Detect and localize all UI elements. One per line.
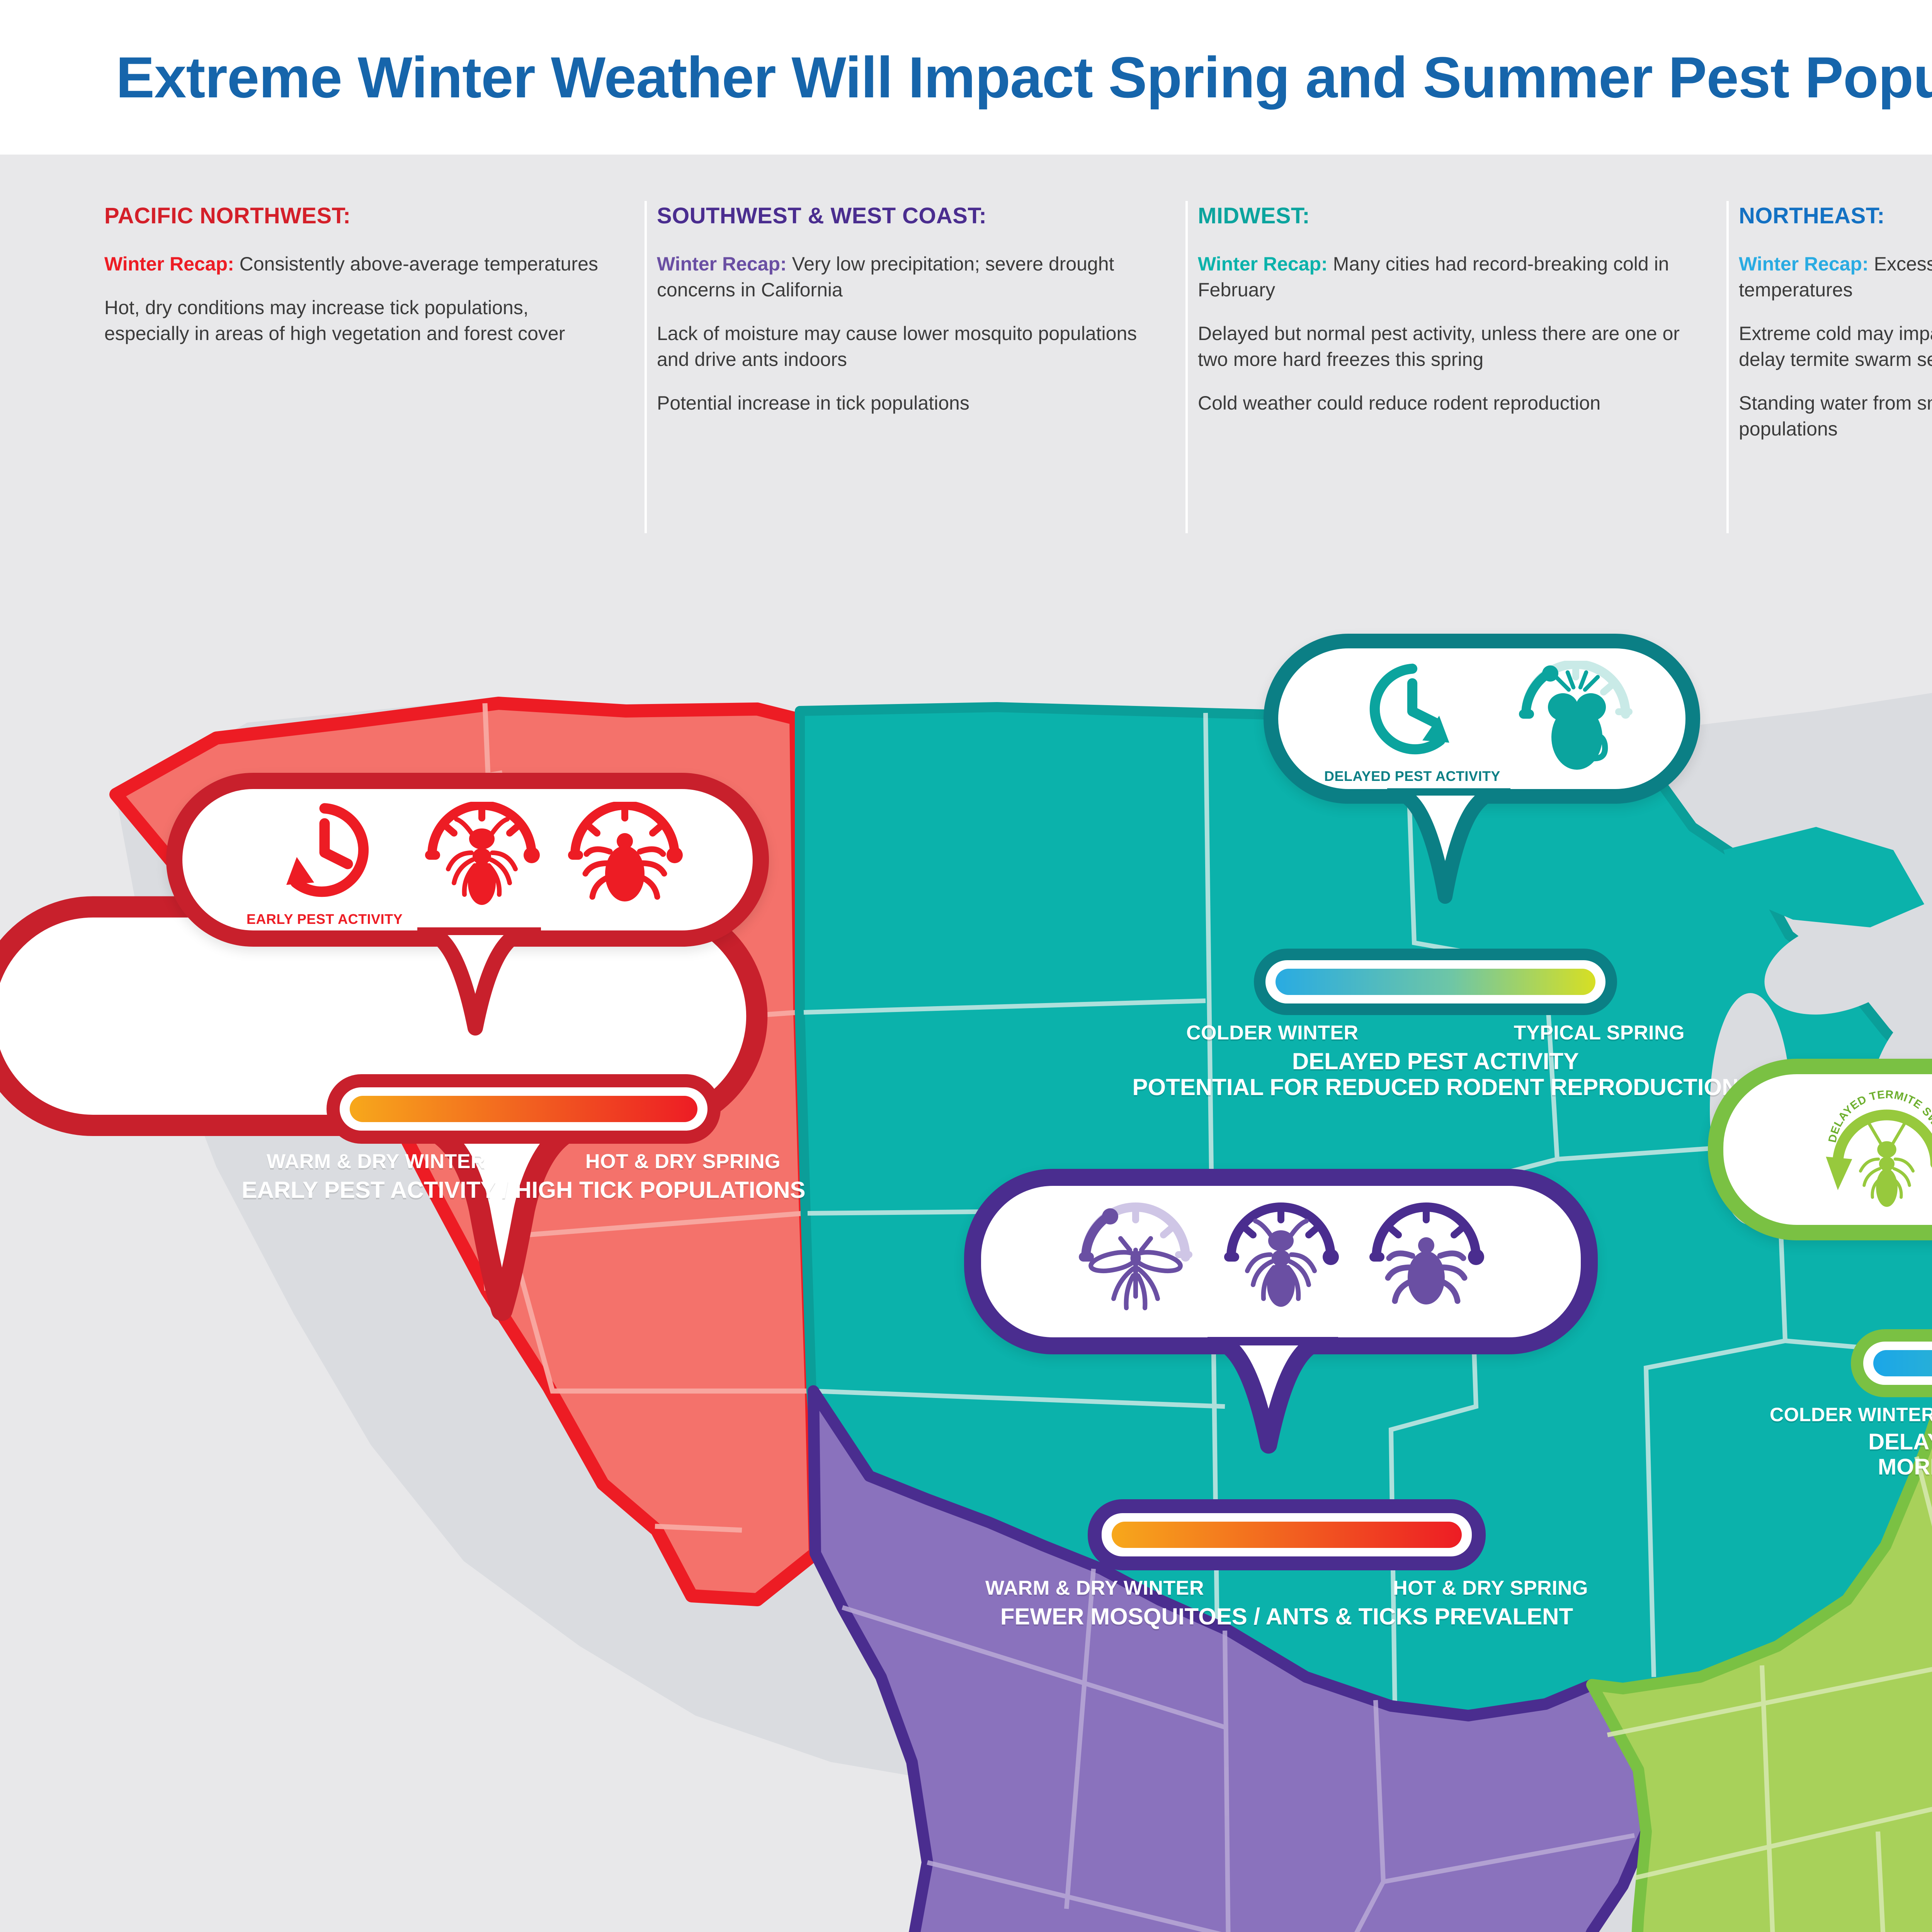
region-heading-midwest: MIDWEST: [1198, 203, 1685, 229]
callout-bubble-midwest[interactable]: DELAYED PEST ACTIVITY [1264, 634, 1700, 804]
gauge-group-southeast: COLDER WINTER COOLER SPRING DELAYED TERM… [1770, 1329, 1932, 1480]
gauge-label-left: COLDER WINTER [1770, 1403, 1932, 1426]
icon-caption-early-pest-activity: EARLY PEST ACTIVITY [247, 911, 403, 927]
region-heading-northeast: NORTHEAST: [1739, 203, 1932, 229]
gauge-labels-pacific-northwest: WARM & DRY WINTER HOT & DRY SPRING [267, 1150, 781, 1173]
gauge-midwest [1254, 949, 1617, 1015]
icon-slot-ant-up [418, 802, 546, 918]
recap-column-pacific-northwest: PACIFIC NORTHWEST: Winter Recap: Consist… [104, 155, 645, 564]
column-divider [645, 201, 647, 533]
summary-line: POTENTIAL FOR REDUCED RODENT REPRODUCTIO… [1133, 1074, 1739, 1100]
gauge-group-pacific-northwest: WARM & DRY WINTER HOT & DRY SPRING EARLY… [267, 1074, 781, 1203]
bug-barometer-logo: bug BAROMETER [62, 1868, 951, 1932]
us-regional-map: EARLY PEST ACTIVITY [0, 556, 1932, 1932]
recap-column-northeast: NORTHEAST: Winter Recap: Excessive snowf… [1727, 155, 1932, 564]
recap-column-southwest-west-coast: SOUTHWEST & WEST COAST: Winter Recap: Ve… [645, 155, 1186, 564]
icon-slot-delayed-pest-activity: DELAYED PEST ACTIVITY [1324, 653, 1500, 784]
recap-note: Hot, dry conditions may increase tick po… [104, 295, 603, 347]
termite-icon: DELAYED TERMITE SWARMS [1821, 1090, 1932, 1209]
icon-slot-tick-up [561, 802, 689, 918]
page-title: Extreme Winter Weather Will Impact Sprin… [116, 44, 1932, 111]
summary-line: DELAYED TERMITE SWARMS [1868, 1430, 1932, 1455]
ant-icon [1217, 1202, 1345, 1321]
gauge-label-left: COLDER WINTER [1186, 1021, 1359, 1044]
ant-icon [418, 802, 546, 918]
gauge-summary-southeast: DELAYED TERMITE SWARMS MORE MOSQUITOES, … [1868, 1430, 1932, 1480]
recap-body-text: Consistently above-average temperatures [234, 253, 598, 275]
gauge-label-right: HOT & DRY SPRING [585, 1150, 781, 1173]
summary-line: EARLY PEST ACTIVITY / HIGH TICK POPULATI… [241, 1177, 805, 1203]
winter-recap-northeast: Winter Recap: Excessive snowfall and fri… [1739, 251, 1932, 303]
recap-lead-label: Winter Recap: [104, 253, 234, 275]
gauge-fill [1112, 1522, 1462, 1548]
gauge-labels-midwest: COLDER WINTER TYPICAL SPRING [1186, 1021, 1685, 1044]
summary-line: DELAYED PEST ACTIVITY [1133, 1048, 1739, 1074]
gauge-label-right: HOT & DRY SPRING [1393, 1577, 1588, 1600]
gauge-label-right: TYPICAL SPRING [1514, 1021, 1685, 1044]
gauge-southwest [1088, 1499, 1486, 1570]
icon-slot-ant-up [1217, 1202, 1345, 1321]
winter-recap-southwest-west-coast: Winter Recap: Very low precipitation; se… [657, 251, 1144, 303]
winter-recap-midwest: Winter Recap: Many cities had record-bre… [1198, 251, 1685, 303]
gauge-fill [350, 1096, 697, 1122]
icon-slot-rodent-down [1512, 661, 1639, 777]
logo-wordmark-bug: bug [452, 1927, 849, 1932]
gauge-label-left: WARM & DRY WINTER [267, 1150, 485, 1173]
recap-note: Standing water from snow melt may increa… [1739, 390, 1932, 442]
winter-recap-pacific-northwest: Winter Recap: Consistently above-average… [104, 251, 603, 277]
recap-note: Cold weather could reduce rodent reprodu… [1198, 390, 1685, 416]
callout-bubble-southeast[interactable]: DELAYED TERMITE SWARMS [1708, 1059, 1932, 1240]
tick-icon [1362, 1202, 1490, 1321]
gauge-southeast [1851, 1329, 1932, 1397]
clock-counterclockwise-icon [267, 792, 383, 908]
column-divider [1726, 201, 1729, 533]
recap-note: Potential increase in tick populations [657, 390, 1144, 416]
column-divider [1185, 201, 1188, 533]
callout-bubble-southwest[interactable] [964, 1169, 1598, 1354]
recap-note: Delayed but normal pest activity, unless… [1198, 321, 1685, 372]
gauge-summary-midwest: DELAYED PEST ACTIVITY POTENTIAL FOR REDU… [1133, 1048, 1739, 1100]
clock-clockwise-icon [1356, 653, 1468, 765]
callout-tail-midwest [1387, 788, 1515, 935]
gauge-group-midwest: COLDER WINTER TYPICAL SPRING DELAYED PES… [1186, 949, 1685, 1100]
icon-slot-tick-up [1362, 1202, 1490, 1321]
gauge-labels-southwest: WARM & DRY WINTER HOT & DRY SPRING [985, 1577, 1588, 1600]
gauge-labels-southeast: COLDER WINTER COOLER SPRING [1770, 1403, 1932, 1426]
recap-note: Lack of moisture may cause lower mosquit… [657, 321, 1144, 372]
rodent-icon [1512, 661, 1639, 777]
gauge-group-southwest: WARM & DRY WINTER HOT & DRY SPRING FEWER… [985, 1499, 1588, 1629]
recap-lead-label: Winter Recap: [657, 253, 787, 275]
recap-lead-label: Winter Recap: [1198, 253, 1328, 275]
region-heading-pacific-northwest: PACIFIC NORTHWEST: [104, 203, 603, 229]
region-heading-southwest-west-coast: SOUTHWEST & WEST COAST: [657, 203, 1144, 229]
callout-tail-southwest [1207, 1337, 1343, 1484]
recap-lead-label: Winter Recap: [1739, 253, 1869, 275]
gauge-summary-pacific-northwest: EARLY PEST ACTIVITY / HIGH TICK POPULATI… [241, 1177, 805, 1203]
regional-recap-strip: PACIFIC NORTHWEST: Winter Recap: Consist… [0, 155, 1932, 564]
tick-icon [561, 802, 689, 918]
gauge-fill [1276, 969, 1595, 995]
summary-line: FEWER MOSQUITOES / ANTS & TICKS PREVALEN… [1000, 1604, 1573, 1629]
icon-slot-mosquito-down [1072, 1202, 1199, 1321]
summary-line: MORE MOSQUITOES, ANTS [1868, 1455, 1932, 1480]
gauge-summary-southwest: FEWER MOSQUITOES / ANTS & TICKS PREVALEN… [1000, 1604, 1573, 1629]
callout-tail-pacific-northwest [417, 927, 545, 1066]
recap-note: Extreme cold may impact stinging insect … [1739, 321, 1932, 372]
gauge-pacific-northwest [327, 1074, 721, 1144]
icon-caption-delayed-pest-activity: DELAYED PEST ACTIVITY [1324, 768, 1500, 784]
gauge-fill [1873, 1350, 1932, 1376]
title-bar: Extreme Winter Weather Will Impact Sprin… [0, 0, 1932, 155]
callout-bubble-pacific-northwest[interactable]: EARLY PEST ACTIVITY [166, 773, 769, 947]
recap-column-midwest: MIDWEST: Winter Recap: Many cities had r… [1186, 155, 1727, 564]
mosquito-icon [1072, 1202, 1199, 1321]
icon-slot-early-pest-activity: EARLY PEST ACTIVITY [247, 792, 403, 927]
icon-slot-termite-delayed: DELAYED TERMITE SWARMS [1821, 1090, 1932, 1209]
gauge-label-left: WARM & DRY WINTER [985, 1577, 1204, 1600]
